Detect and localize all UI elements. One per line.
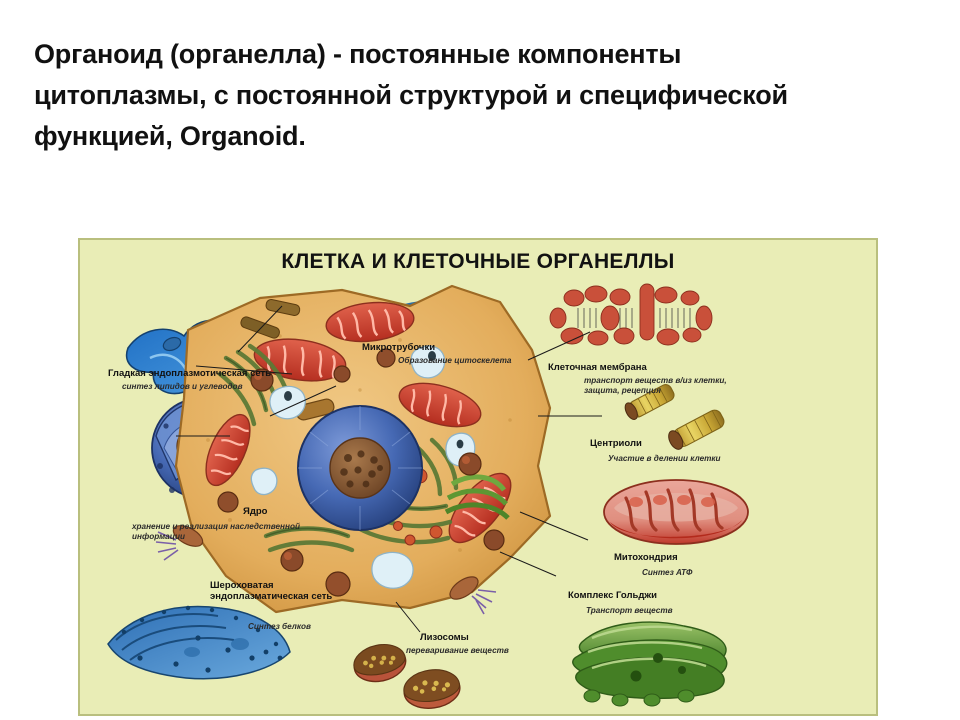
golgi-illustration	[573, 622, 727, 706]
function-cell-membrane: транспорт веществ в/из клетки, защита, р…	[584, 376, 744, 396]
page-title-accent: Органоид (органелла)	[34, 39, 326, 69]
label-mitochondria: Митохондрия	[614, 552, 678, 563]
leader-golgi	[500, 552, 556, 576]
label-cell-membrane: Клеточная мембрана	[548, 362, 647, 373]
label-smooth-er: Гладкая эндоплазмотическая сеть	[108, 368, 328, 379]
page-title: Органоид (органелла) - постоянные компон…	[34, 34, 834, 157]
cell-membrane-illustration	[550, 284, 712, 345]
label-centrioles: Центриоли	[590, 438, 642, 449]
function-nucleus: хранение и реализация наследственной инф…	[132, 522, 312, 542]
label-golgi: Комплекс Гольджи	[568, 590, 657, 601]
mitochondria-illustration	[604, 480, 748, 544]
slide-root: Органоид (органелла) - постоянные компон…	[0, 0, 960, 720]
cell-organelles-poster: КЛЕТКА И КЛЕТОЧНЫЕ ОРГАНЕЛЛЫ	[78, 238, 878, 716]
function-golgi: Транспорт веществ	[586, 606, 673, 616]
function-rough-er: Синтез белков	[248, 622, 398, 632]
function-smooth-er: синтез липидов и углеводов	[122, 382, 332, 392]
label-microtubules: Микротрубочки	[362, 342, 435, 353]
animal-cell-illustration	[156, 286, 550, 614]
label-nucleus: Ядро	[243, 506, 267, 517]
function-centrioles: Участие в делении клетки	[608, 454, 778, 464]
poster-artwork	[80, 240, 878, 716]
rough-er-illustration	[108, 606, 290, 679]
function-lysosomes: переваривание веществ	[406, 646, 576, 656]
label-lysosomes: Лизосомы	[420, 632, 469, 643]
label-rough-er: Шероховатая эндоплазматическая сеть	[210, 580, 340, 603]
function-mitochondria: Синтез АТФ	[642, 568, 692, 578]
